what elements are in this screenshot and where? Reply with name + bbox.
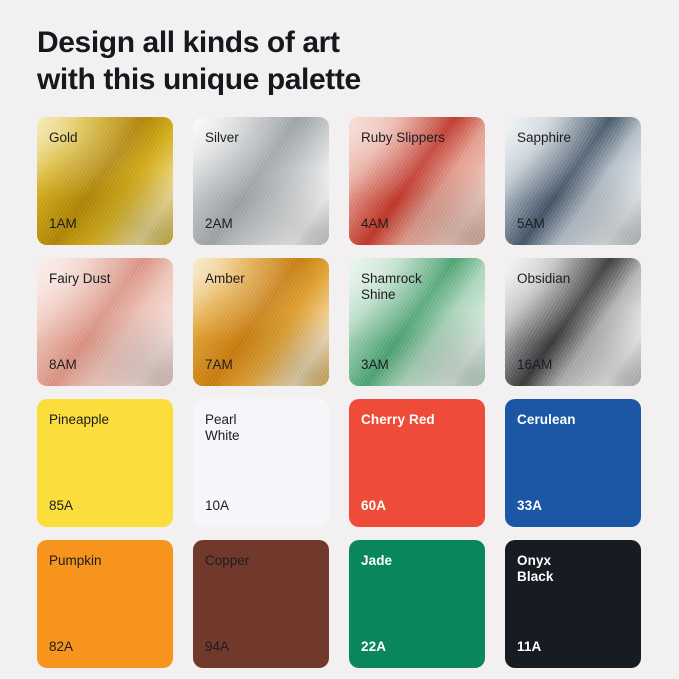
swatch-sapphire[interactable]: Sapphire5AM [505,117,641,245]
swatch-shamrock-shine[interactable]: Shamrock Shine3AM [349,258,485,386]
swatch-code: 2AM [205,216,233,232]
swatch-name: Ruby Slippers [361,130,445,146]
swatch-name: Copper [205,553,249,569]
swatch-code: 16AM [517,357,552,373]
swatch-cherry-red[interactable]: Cherry Red60A [349,399,485,527]
swatch-pineapple[interactable]: Pineapple85A [37,399,173,527]
swatch-name: Silver [205,130,239,146]
swatch-code: 22A [361,639,386,655]
swatch-name: Onyx Black [517,553,554,585]
swatch-name: Pumpkin [49,553,102,569]
color-palette-page: Design all kinds of art with this unique… [0,0,679,679]
swatch-gold[interactable]: Gold1AM [37,117,173,245]
swatch-code: 11A [517,639,541,655]
swatch-code: 7AM [205,357,233,373]
swatch-name: Jade [361,553,392,569]
swatch-name: Cerulean [517,412,576,428]
swatch-name: Amber [205,271,245,287]
swatch-code: 82A [49,639,73,655]
swatch-code: 60A [361,498,386,514]
swatch-name: Gold [49,130,78,146]
swatch-name: Obsidian [517,271,570,287]
swatch-code: 85A [49,498,73,514]
swatch-name: Sapphire [517,130,571,146]
swatch-code: 94A [205,639,229,655]
swatch-silver[interactable]: Silver2AM [193,117,329,245]
swatch-code: 3AM [361,357,389,373]
swatch-code: 8AM [49,357,77,373]
swatch-code: 5AM [517,216,545,232]
swatch-code: 10A [205,498,229,514]
swatch-copper[interactable]: Copper94A [193,540,329,668]
swatch-code: 33A [517,498,542,514]
swatch-code: 1AM [49,216,77,232]
palette-grid: Gold1AMSilver2AMRuby Slippers4AMSapphire… [37,117,642,668]
swatch-name: Fairy Dust [49,271,111,287]
swatch-code: 4AM [361,216,389,232]
swatch-pumpkin[interactable]: Pumpkin82A [37,540,173,668]
swatch-obsidian[interactable]: Obsidian16AM [505,258,641,386]
swatch-jade[interactable]: Jade22A [349,540,485,668]
swatch-amber[interactable]: Amber7AM [193,258,329,386]
swatch-name: Pearl White [205,412,240,444]
swatch-ruby-slippers[interactable]: Ruby Slippers4AM [349,117,485,245]
swatch-pearl-white[interactable]: Pearl White10A [193,399,329,527]
swatch-fairy-dust[interactable]: Fairy Dust8AM [37,258,173,386]
swatch-onyx-black[interactable]: Onyx Black11A [505,540,641,668]
swatch-name: Cherry Red [361,412,435,428]
swatch-name: Shamrock Shine [361,271,422,303]
swatch-cerulean[interactable]: Cerulean33A [505,399,641,527]
swatch-name: Pineapple [49,412,109,428]
page-title: Design all kinds of art with this unique… [37,25,647,98]
